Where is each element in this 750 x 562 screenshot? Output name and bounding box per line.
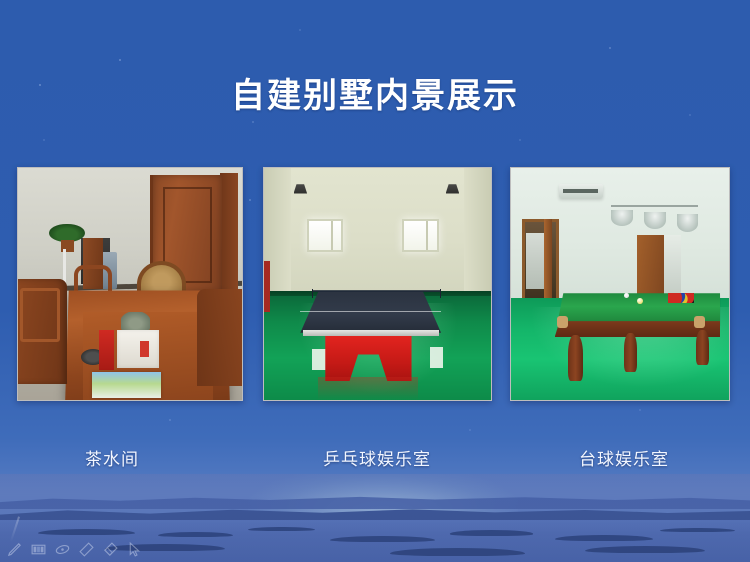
pendant-lamp-1 xyxy=(611,210,633,226)
table-leg-3 xyxy=(696,330,709,365)
annotation-toolbar[interactable] xyxy=(6,541,143,558)
pocket-left xyxy=(557,316,568,328)
net-post-left xyxy=(312,289,314,298)
highlighter-icon[interactable] xyxy=(78,541,95,558)
table-center-line xyxy=(300,311,441,313)
pendant-lamp-3 xyxy=(677,214,699,231)
door-right xyxy=(637,235,663,298)
chair-right xyxy=(197,289,242,386)
ping-pong-room-scene xyxy=(264,168,491,400)
billiards-room-scene xyxy=(511,168,729,400)
table-front-edge xyxy=(303,330,439,336)
table-leg-2 xyxy=(624,333,637,372)
tea-room-scene xyxy=(18,168,242,400)
pocket-right xyxy=(694,316,705,328)
white-carton xyxy=(117,330,160,367)
table-leg-1 xyxy=(568,335,583,381)
air-conditioner xyxy=(559,184,603,198)
window-left xyxy=(307,219,343,251)
photo-billiards-room[interactable] xyxy=(510,167,730,401)
brochure xyxy=(92,372,161,398)
paper-left xyxy=(312,349,328,370)
photo-gallery-row xyxy=(0,167,750,401)
slide-title: 自建别墅内景展示 xyxy=(0,68,750,117)
base-reflection xyxy=(318,377,418,400)
door-panel-left xyxy=(544,219,553,303)
red-box xyxy=(99,330,115,369)
pen-icon[interactable] xyxy=(6,541,23,558)
lamp-rail xyxy=(611,205,698,207)
presentation-slide: 自建别墅内景展示 xyxy=(0,0,750,562)
net-post-right xyxy=(440,289,442,298)
chair-left xyxy=(18,279,67,383)
red-post xyxy=(264,261,270,312)
photo-tea-room[interactable] xyxy=(17,167,243,401)
caption-ping-pong-room: 乒乓球娱乐室 xyxy=(323,445,431,470)
ink-color-icon[interactable] xyxy=(30,541,47,558)
doorway-right-open xyxy=(664,235,681,298)
arrow-pointer-icon[interactable] xyxy=(126,541,143,558)
table-tennis-net xyxy=(312,290,441,292)
laser-pointer-icon[interactable] xyxy=(54,541,71,558)
caption-billiards-room: 台球娱乐室 xyxy=(579,445,669,470)
yellow-ball xyxy=(637,298,643,304)
window-right xyxy=(402,219,438,251)
eraser-icon[interactable] xyxy=(102,541,119,558)
caption-tea-room: 茶水间 xyxy=(85,445,139,470)
door-frame xyxy=(220,173,238,303)
paper-right xyxy=(430,347,444,368)
photo-ping-pong-room[interactable] xyxy=(263,167,492,401)
ball-rack xyxy=(668,293,694,302)
